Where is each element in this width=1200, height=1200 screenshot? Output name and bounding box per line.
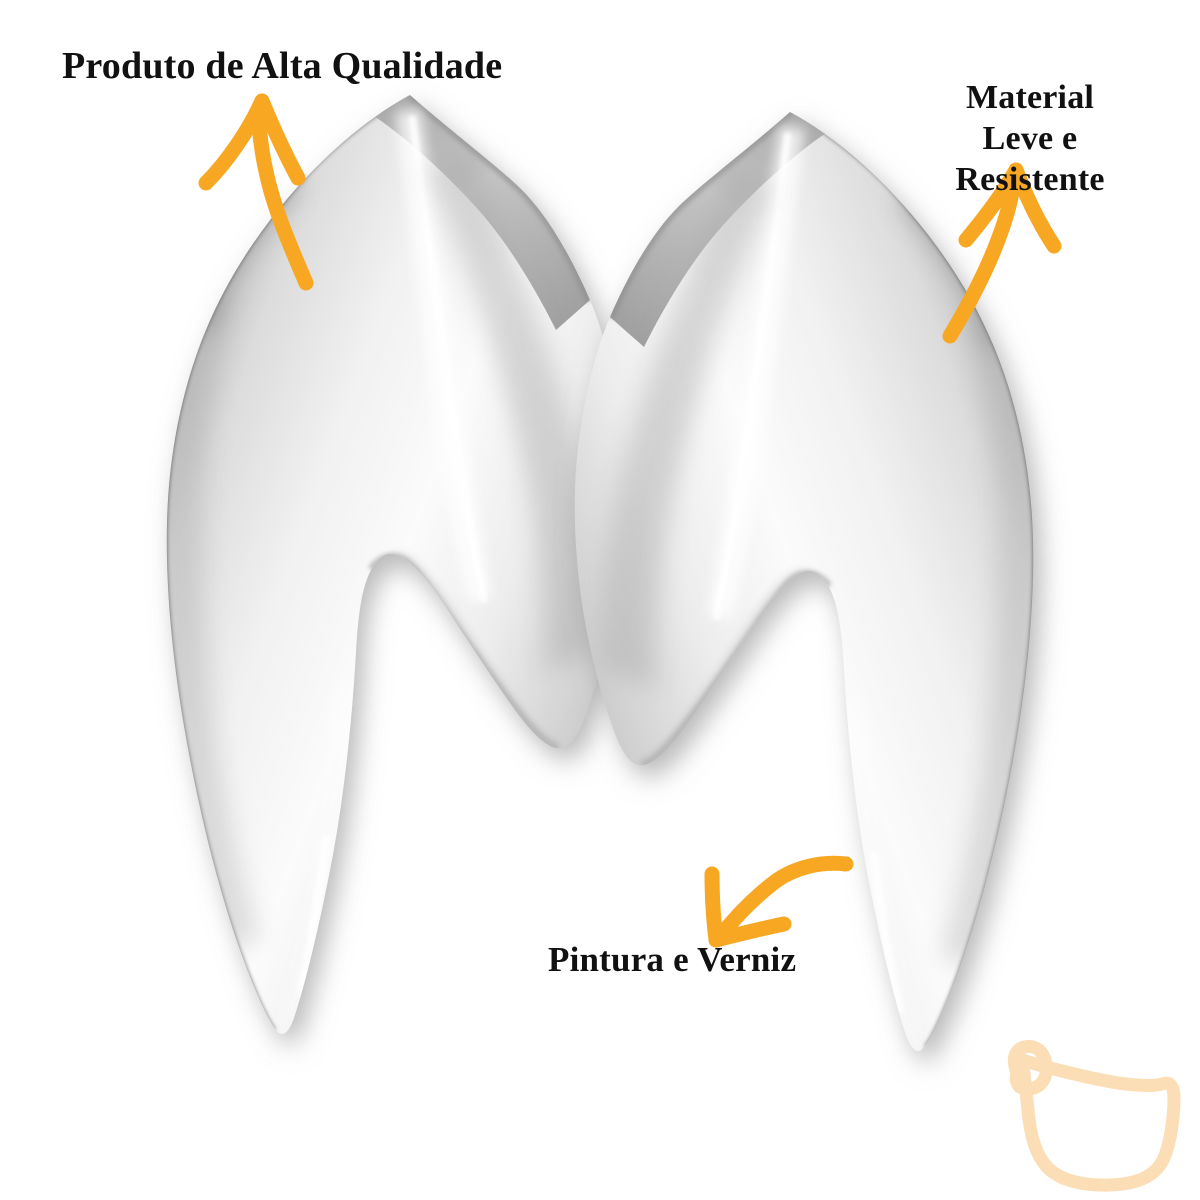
arrow-top-left-icon — [206, 101, 306, 283]
arrow-top-right-icon — [950, 170, 1054, 336]
product-promo-canvas: Produto de Alta Qualidade Material Leve … — [0, 0, 1200, 1200]
annotation-arrows — [0, 0, 1200, 1200]
arrow-bottom-icon — [712, 863, 846, 940]
